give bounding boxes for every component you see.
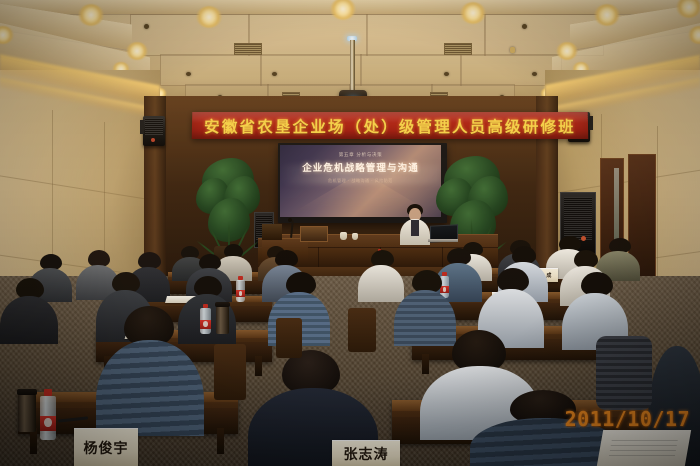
attendee-r3-a <box>0 278 58 344</box>
slide-body-line: 危机管理 · 战略沟通 · 风险防范 <box>280 178 441 184</box>
bottle-front-left <box>40 396 56 440</box>
presenter <box>398 204 432 244</box>
namecard-front-left[interactable]: 杨俊宇 <box>74 428 138 466</box>
head-table-panel-left <box>262 224 282 240</box>
slide-subtitle: 第五章 分析与决策 <box>280 152 441 158</box>
banner-text: 安徽省农垦企业场（处）级管理人员高级研修班 <box>204 115 576 137</box>
chair-1 <box>214 344 246 400</box>
namecard-front-center-text: 张志涛 <box>344 444 389 464</box>
slide-title: 企业危机战略管理与沟通 <box>280 160 441 174</box>
papers-front-right-lines <box>608 440 678 460</box>
bottle-r2-a <box>236 280 245 302</box>
namecard-front-center[interactable]: 张志涛 <box>332 440 400 466</box>
head-table-cup-1 <box>340 232 347 240</box>
microphone-capsule <box>288 218 292 222</box>
event-banner: 安徽省农垦企业场（处）级管理人员高级研修班 <box>192 112 589 139</box>
chair-2 <box>348 308 376 352</box>
namecard-front-left-text: 杨俊宇 <box>84 438 129 458</box>
head-table-cup-2 <box>352 233 358 240</box>
chair-4 <box>276 318 302 358</box>
tumbler-r3 <box>216 306 229 334</box>
attendee-front-striped <box>96 306 204 436</box>
head-table-monitor <box>300 226 328 242</box>
chair-3 <box>596 336 652 410</box>
tumbler-front-left <box>18 394 36 432</box>
wall-speaker-left <box>143 116 165 146</box>
camera-datestamp: 2011/10/17 <box>565 407 690 431</box>
conference-room-photograph: 安徽省农垦企业场（处）级管理人员高级研修班 第五章 分析与决策 企业危机战略管理… <box>0 0 700 466</box>
